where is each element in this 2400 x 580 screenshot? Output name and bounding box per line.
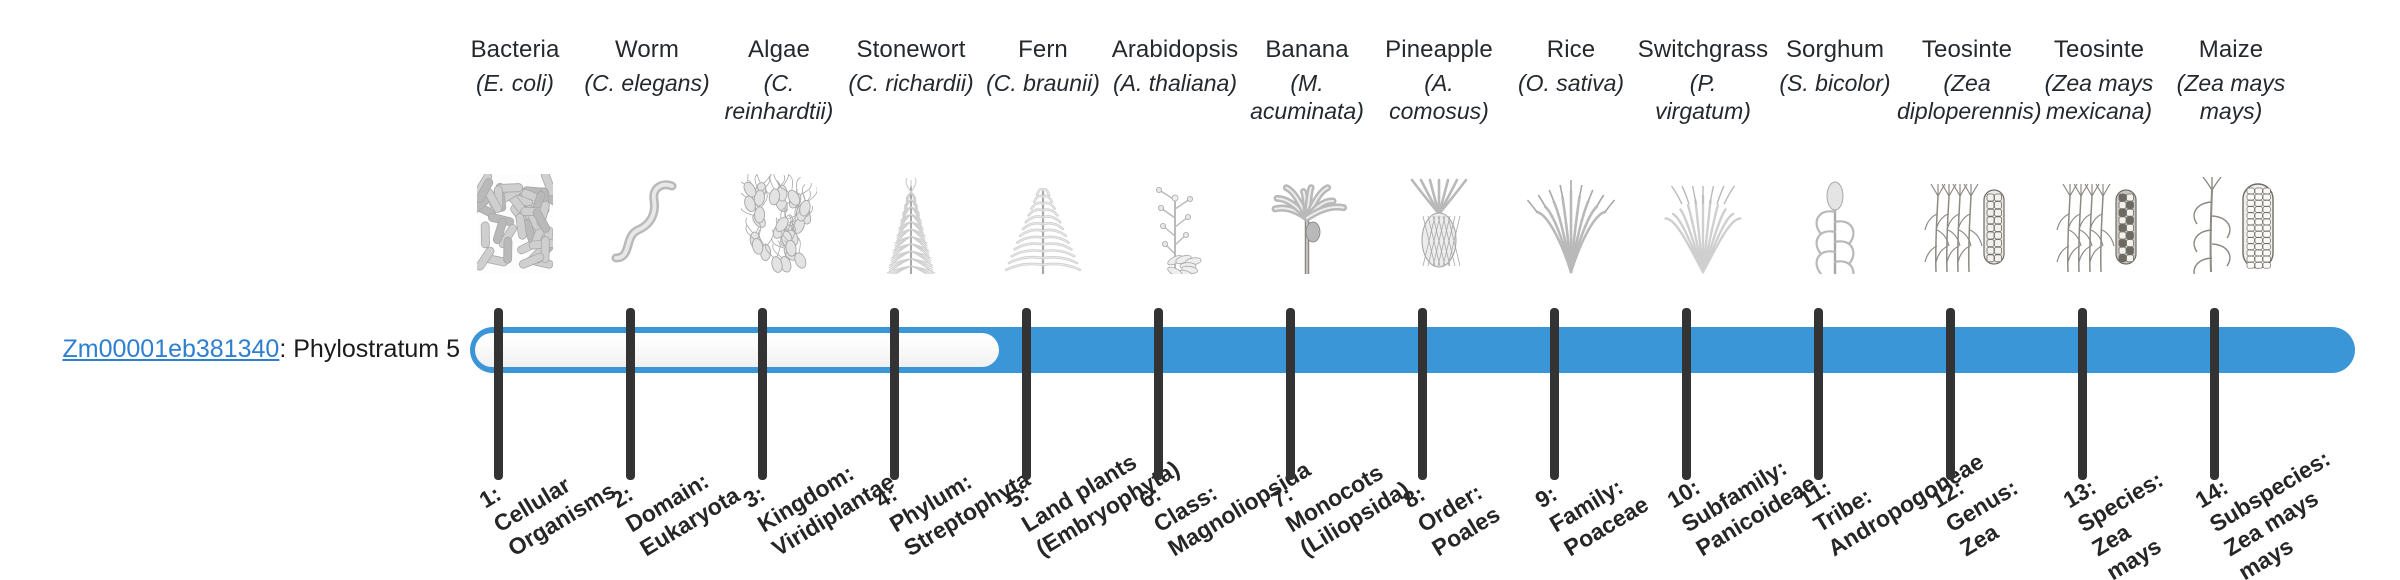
organism-column: Sorghum(S. bicolor) [1765, 36, 1905, 98]
organism-column: Teosinte(Zea mays mexicana) [2029, 36, 2169, 126]
organism-column: Teosinte(Zea diploperennis) [1897, 36, 2037, 126]
level-tick[interactable] [1814, 308, 1823, 480]
organism-scientific-name: (E. coli) [445, 70, 585, 98]
organism-scientific-name: (C. elegans) [577, 70, 717, 98]
teosinte-plant-ear-icon [1897, 164, 2037, 274]
stonewort-alga-icon [841, 164, 981, 274]
organism-common-name: Maize [2161, 36, 2301, 64]
level-tick[interactable] [1682, 308, 1691, 480]
organism-scientific-name: (O. sativa) [1501, 70, 1641, 98]
organism-common-name: Fern [973, 36, 1113, 64]
organism-column: Pineapple(A. comosus) [1369, 36, 1509, 126]
organism-scientific-name: (S. bicolor) [1765, 70, 1905, 98]
organism-column: Maize(Zea mays mays) [2161, 36, 2301, 126]
level-tick[interactable] [1286, 308, 1295, 480]
level-tick[interactable] [2078, 308, 2087, 480]
organism-scientific-name: (C. braunii) [973, 70, 1113, 98]
organism-column: Worm(C. elegans) [577, 36, 717, 98]
organism-common-name: Arabidopsis [1105, 36, 1245, 64]
organism-common-name: Stonewort [841, 36, 981, 64]
phylostratum-figure: Zm00001eb381340: Phylostratum 5 Bacteria… [0, 0, 2400, 580]
organism-common-name: Rice [1501, 36, 1641, 64]
arabidopsis-rosette-icon [1105, 164, 1245, 274]
level-tick[interactable] [1154, 308, 1163, 480]
switchgrass-clump-icon [1633, 164, 1773, 274]
organism-column: Fern(C. braunii) [973, 36, 1113, 98]
gene-phylostratum-label: Zm00001eb381340: Phylostratum 5 [40, 337, 460, 362]
level-tick[interactable] [494, 308, 503, 480]
organism-common-name: Worm [577, 36, 717, 64]
green-algae-cells-icon [709, 164, 849, 274]
level-tick[interactable] [1022, 308, 1031, 480]
organism-scientific-name: (Zea mays mays) [2161, 70, 2301, 125]
organism-column: Banana(M. acuminata) [1237, 36, 1377, 126]
organism-column: Rice(O. sativa) [1501, 36, 1641, 98]
organism-scientific-name: (A. thaliana) [1105, 70, 1245, 98]
bacteria-rods-icon [445, 164, 585, 274]
gene-accession-link[interactable]: Zm00001eb381340 [62, 335, 279, 363]
nematode-worm-icon [577, 164, 717, 274]
organism-column: Switchgrass(P. virgatum) [1633, 36, 1773, 126]
organism-scientific-name: (Zea mays mexicana) [2029, 70, 2169, 125]
organism-scientific-name: (C. reinhardtii) [709, 70, 849, 125]
level-tick[interactable] [626, 308, 635, 480]
bar-unfilled-track [475, 333, 999, 367]
organism-scientific-name: (Zea diploperennis) [1897, 70, 2037, 125]
pineapple-fruit-icon [1369, 164, 1509, 274]
phylostratum-value: Phylostratum 5 [293, 335, 460, 363]
level-tick[interactable] [890, 308, 899, 480]
phylostratum-bar[interactable] [470, 327, 2355, 373]
sorghum-plant-icon [1765, 164, 1905, 274]
organism-header-row: Bacteria(E. coli)Worm(C. elegans)Algae(C… [460, 36, 2360, 306]
teosinte-mexicana-icon [2029, 164, 2169, 274]
fern-frond-icon [973, 164, 1113, 274]
organism-scientific-name: (C. richardii) [841, 70, 981, 98]
maize-plant-cob-icon [2161, 164, 2301, 274]
rice-plant-icon [1501, 164, 1641, 274]
organism-scientific-name: (M. acuminata) [1237, 70, 1377, 125]
banana-plant-icon [1237, 164, 1377, 274]
level-tick[interactable] [758, 308, 767, 480]
level-tick[interactable] [2210, 308, 2219, 480]
organism-common-name: Teosinte [1897, 36, 2037, 64]
organism-column: Stonewort(C. richardii) [841, 36, 981, 98]
organism-column: Arabidopsis(A. thaliana) [1105, 36, 1245, 98]
organism-common-name: Sorghum [1765, 36, 1905, 64]
organism-column: Bacteria(E. coli) [445, 36, 585, 98]
organism-common-name: Banana [1237, 36, 1377, 64]
organism-common-name: Algae [709, 36, 849, 64]
organism-scientific-name: (A. comosus) [1369, 70, 1509, 125]
level-tick[interactable] [1418, 308, 1427, 480]
organism-common-name: Pineapple [1369, 36, 1509, 64]
organism-column: Algae(C. reinhardtii) [709, 36, 849, 126]
organism-common-name: Teosinte [2029, 36, 2169, 64]
organism-common-name: Switchgrass [1633, 36, 1773, 64]
organism-common-name: Bacteria [445, 36, 585, 64]
level-tick[interactable] [1946, 308, 1955, 480]
gene-label-separator: : [279, 335, 293, 363]
organism-scientific-name: (P. virgatum) [1633, 70, 1773, 125]
level-tick[interactable] [1550, 308, 1559, 480]
